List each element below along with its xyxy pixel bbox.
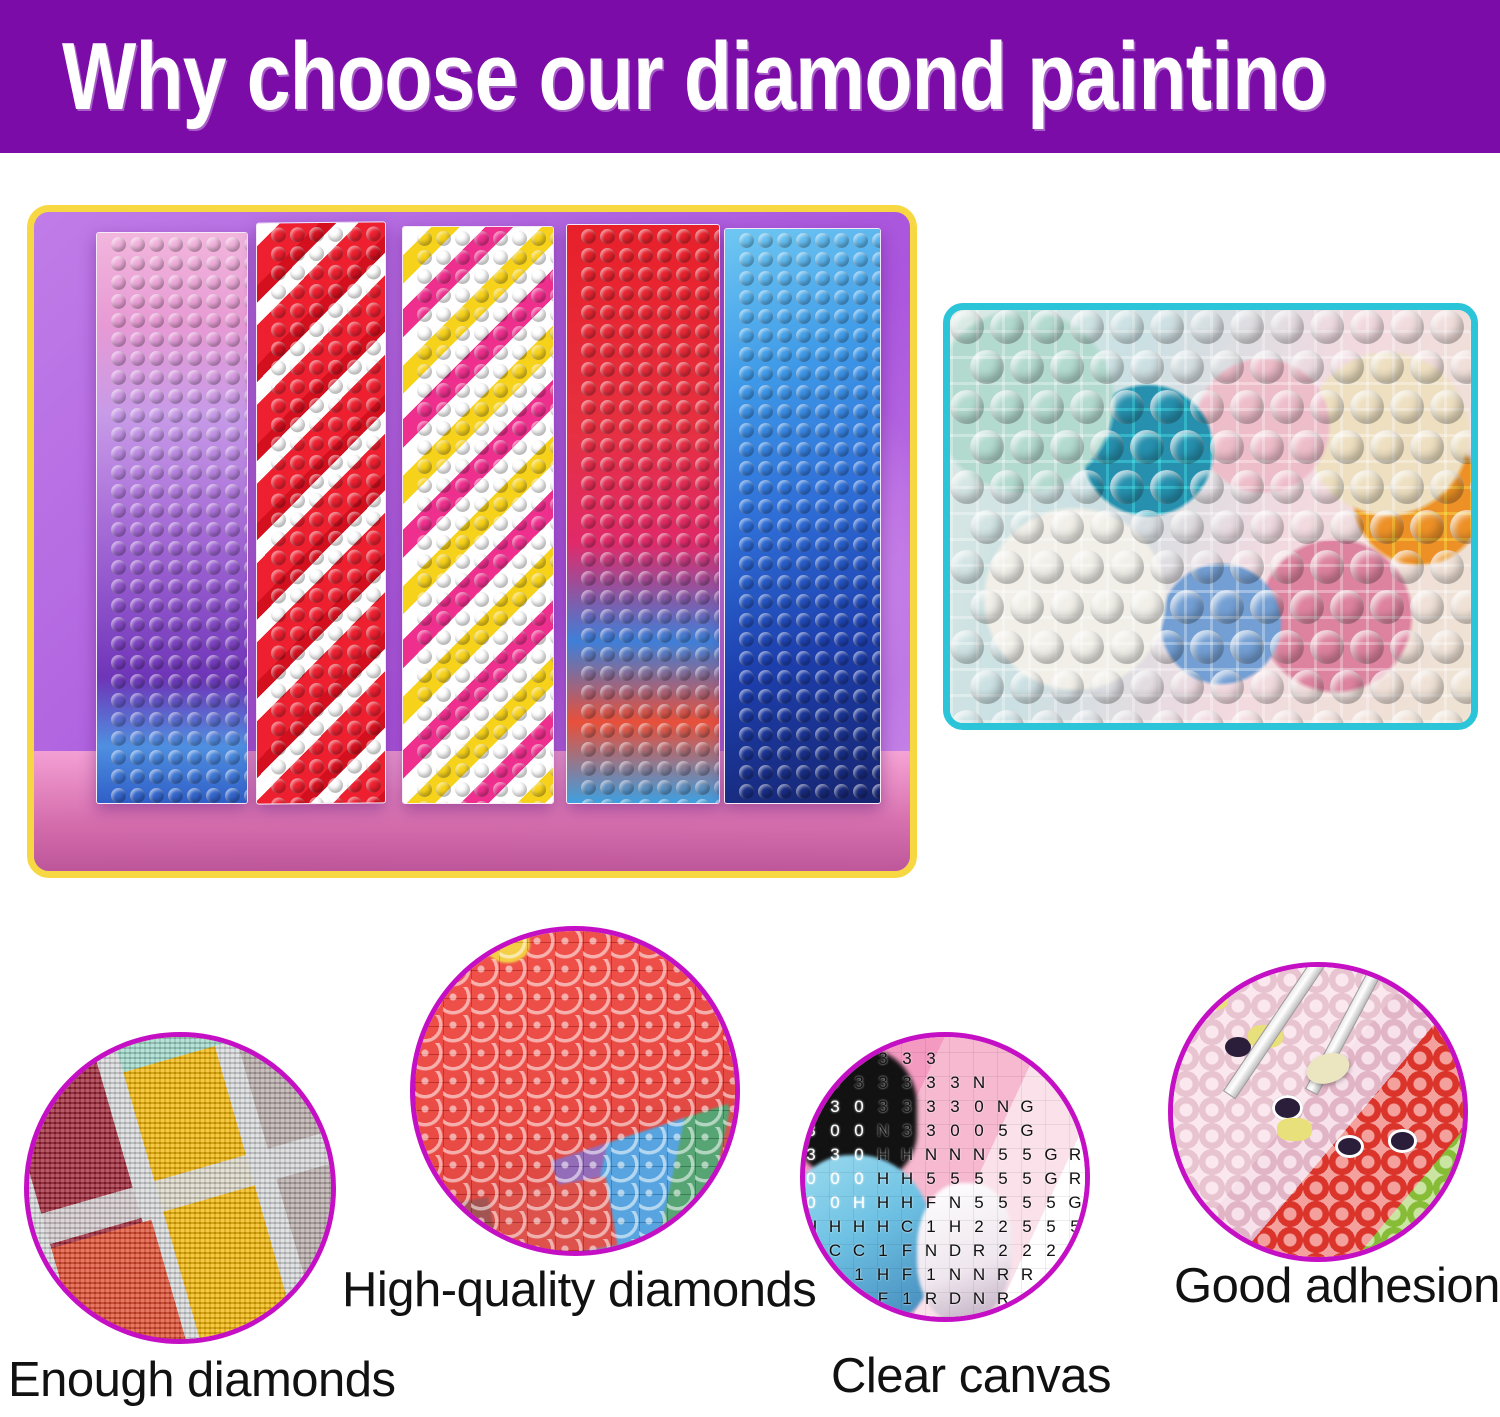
feature-image-good-adhesion [1168,962,1468,1262]
hero-panel-yellow-pink-chevron [402,226,554,804]
hero-panel-blue-gradient [724,228,881,804]
caption-enough-diamonds: Enough diamonds [8,1352,396,1408]
bead-texture [567,225,719,803]
bead-texture [950,310,1471,723]
header-banner: Why choose our diamond paintino [0,0,1500,153]
caption-good-adhesion: Good adhesion [1174,1258,1500,1314]
caption-high-quality-diamonds: High-quality diamonds [342,1262,816,1318]
page-title: Why choose our diamond paintino [62,22,1327,132]
bead-texture [257,222,385,803]
bead-texture [403,227,553,803]
caption-clear-canvas: Clear canvas [831,1348,1111,1404]
feature-image-clear-canvas: 3333333033333N33033330NG300N33005G330HHN… [800,1032,1090,1322]
closeup-image-pastel-diamonds [943,303,1478,730]
feature-image-high-quality-diamonds [410,926,740,1256]
hero-panel-red-chevron [256,221,386,804]
bead-texture [725,229,880,803]
hero-panel-pink-purple [96,232,248,804]
bead-texture [97,233,247,803]
hero-image-diamond-painting-boards [27,205,917,878]
hero-panel-red-multicolor [566,224,720,804]
feature-image-enough-diamonds [24,1032,336,1344]
